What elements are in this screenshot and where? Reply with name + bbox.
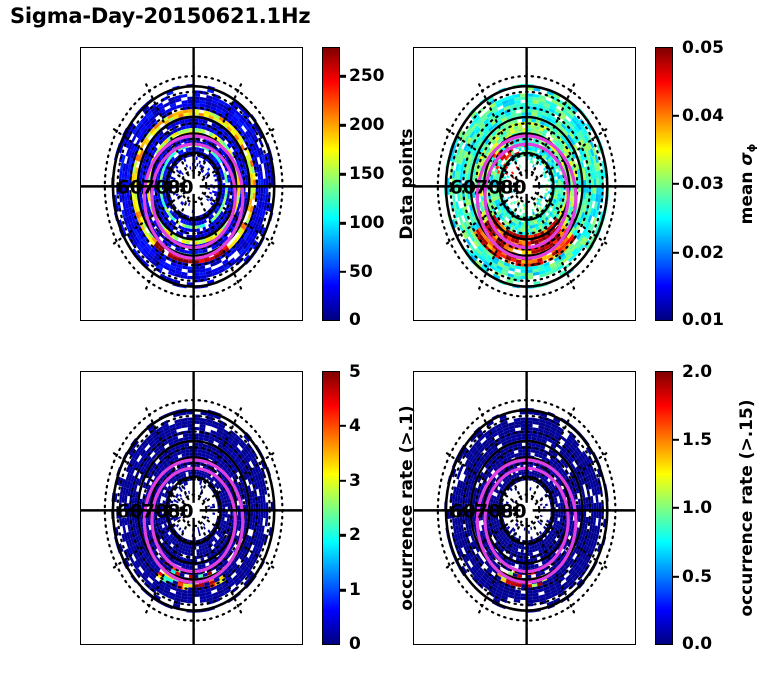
colorbar-tick-label: 100 [349, 213, 385, 233]
colorbar-tick [340, 124, 346, 126]
latitude-label: 70 [475, 500, 501, 522]
latitude-label: 70 [142, 500, 168, 522]
cbar-mean-sigma-phi-ticks: 0.010.020.030.040.05 [673, 47, 743, 321]
colorbar-tick [340, 271, 346, 273]
colorbar-tick-label: 0.05 [682, 38, 724, 58]
latitude-label: 60 [117, 500, 143, 522]
cbar-mean-sigma-phi-title: mean σϕ [737, 47, 758, 321]
colorbar-tick [673, 114, 679, 116]
colorbar-tick-label: 1 [349, 580, 361, 600]
panel-data-points[interactable]: 607080 [80, 47, 303, 321]
cbar-occurrence-rate-015-title: occurrence rate (>.15) [737, 371, 757, 645]
panel-mean-sigma-phi[interactable]: 607080 [413, 47, 636, 321]
latitude-label: 80 [500, 500, 526, 522]
cbar-data-points[interactable] [322, 47, 340, 321]
latitude-labels: 607080 [117, 500, 194, 522]
colorbar-tick [673, 507, 679, 509]
colorbar-tick-label: 0 [349, 634, 361, 654]
colorbar-tick [340, 479, 346, 481]
latitude-label: 80 [167, 500, 193, 522]
latitude-labels: 607080 [450, 176, 527, 198]
colorbar-tick-label: 0 [349, 310, 361, 330]
colorbar-tick-label: 1.5 [682, 430, 712, 450]
colorbar-tick-label: 0.04 [682, 106, 724, 126]
polar-plot: 607080 [81, 48, 302, 320]
colorbar-tick-label: 0.0 [682, 634, 712, 654]
colorbar-tick-label: 2.0 [682, 362, 712, 382]
polar-plot: 607080 [414, 372, 635, 644]
cbar-occurrence-rate-015-ticks: 0.00.51.01.52.0 [673, 371, 743, 645]
latitude-labels: 607080 [117, 176, 194, 198]
latitude-label: 60 [117, 176, 143, 198]
latitude-label: 70 [475, 176, 501, 198]
latitude-labels: 607080 [450, 500, 527, 522]
colorbar-tick-label: 0.03 [682, 174, 724, 194]
polar-plot: 607080 [81, 372, 302, 644]
colorbar-tick [340, 425, 346, 427]
cbar-mean-sigma-phi[interactable] [655, 47, 673, 321]
panel-occurrence-rate-015[interactable]: 607080 [413, 371, 636, 645]
colorbar-tick [673, 251, 679, 253]
colorbar-tick-label: 250 [349, 66, 385, 86]
figure-canvas: Sigma-Day-20150621.1Hz 60708060708060708… [0, 0, 759, 674]
latitude-label: 60 [450, 176, 476, 198]
latitude-label: 70 [142, 176, 168, 198]
colorbar-tick-label: 3 [349, 471, 361, 491]
cbar-occurrence-rate-015[interactable] [655, 371, 673, 645]
colorbar-tick-label: 0.01 [682, 310, 724, 330]
panel-occurrence-rate-01[interactable]: 607080 [80, 371, 303, 645]
colorbar-tick-label: 150 [349, 164, 385, 184]
latitude-label: 80 [167, 176, 193, 198]
colorbar-tick [673, 438, 679, 440]
cbar-occurrence-rate-01-title: occurrence rate (>.1) [397, 371, 417, 645]
latitude-label: 80 [500, 176, 526, 198]
colorbar-tick-label: 200 [349, 115, 385, 135]
colorbar-tick [340, 589, 346, 591]
page-title: Sigma-Day-20150621.1Hz [10, 4, 310, 28]
colorbar-tick [340, 222, 346, 224]
polar-plot-area: 607080 [81, 372, 302, 644]
polar-plot-area: 607080 [414, 372, 635, 644]
colorbar-tick-label: 4 [349, 416, 361, 436]
colorbar-tick [340, 173, 346, 175]
latitude-label: 60 [450, 500, 476, 522]
colorbar-tick-label: 0.5 [682, 567, 712, 587]
polar-plot: 607080 [414, 48, 635, 320]
colorbar-tick [673, 575, 679, 577]
colorbar-tick [340, 534, 346, 536]
colorbar-tick [340, 75, 346, 77]
cbar-data-points-title: Data points [397, 47, 417, 321]
colorbar-tick-label: 50 [349, 262, 373, 282]
colorbar-tick-label: 2 [349, 525, 361, 545]
polar-plot-area: 607080 [81, 48, 302, 320]
colorbar-tick-label: 5 [349, 362, 361, 382]
colorbar-tick [673, 183, 679, 185]
polar-plot-area: 607080 [414, 48, 635, 320]
colorbar-tick-label: 1.0 [682, 498, 712, 518]
colorbar-tick-label: 0.02 [682, 243, 724, 263]
cbar-occurrence-rate-01[interactable] [322, 371, 340, 645]
